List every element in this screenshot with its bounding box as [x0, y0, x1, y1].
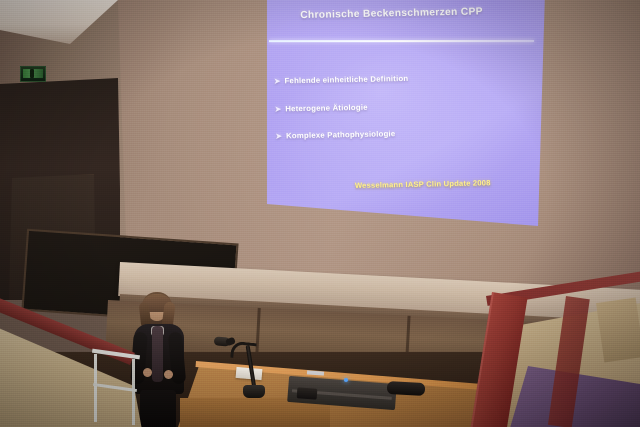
control-panel[interactable] [297, 387, 318, 399]
slide-bullet-1: ➤Fehlende einheitliche Definition [274, 74, 409, 86]
bullet-arrow-icon: ➤ [274, 76, 281, 85]
cart-leg [94, 354, 97, 422]
speaker-hand-right [164, 370, 173, 379]
slide-bullet-1-text: Fehlende einheitliche Definition [284, 74, 408, 85]
speaker-scarf [152, 326, 163, 382]
equipment-cart [92, 352, 140, 424]
speaker-legs [140, 390, 176, 427]
right-bench-far [596, 298, 640, 363]
projection-screen: Chronische Beckenschmerzen CPP ➤Fehlende… [255, 0, 555, 238]
slide-title: Chronische Beckenschmerzen CPP [300, 6, 515, 21]
cart-lower-shelf [93, 383, 137, 392]
microphone-base [243, 385, 265, 398]
exit-sign [20, 66, 46, 82]
slide-divider-rule [269, 40, 534, 42]
power-led-icon [344, 378, 348, 382]
exit-sign-figure-icon [30, 69, 34, 78]
slide-bullet-3: ➤Komplexe Pathophysiologie [275, 129, 395, 140]
slide-citation: Wesselmann IASP Clin Update 2008 [355, 178, 491, 190]
cart-leg [132, 359, 135, 425]
microphone-gooseneck-curve [230, 341, 257, 361]
projected-slide: Chronische Beckenschmerzen CPP ➤Fehlende… [255, 0, 555, 238]
lecture-hall-photo: Chronische Beckenschmerzen CPP ➤Fehlende… [0, 0, 640, 427]
bullet-arrow-icon: ➤ [275, 131, 282, 140]
slide-bullet-2: ➤Heterogene Ätiologie [275, 103, 368, 114]
bullet-arrow-icon: ➤ [275, 104, 282, 113]
speaker-hand-left [143, 368, 152, 377]
black-case [387, 381, 426, 396]
slide-bullet-3-text: Komplexe Pathophysiologie [286, 129, 396, 140]
slide-content: Chronische Beckenschmerzen CPP ➤Fehlende… [255, 0, 555, 238]
slide-bullet-2-text: Heterogene Ätiologie [285, 103, 368, 114]
